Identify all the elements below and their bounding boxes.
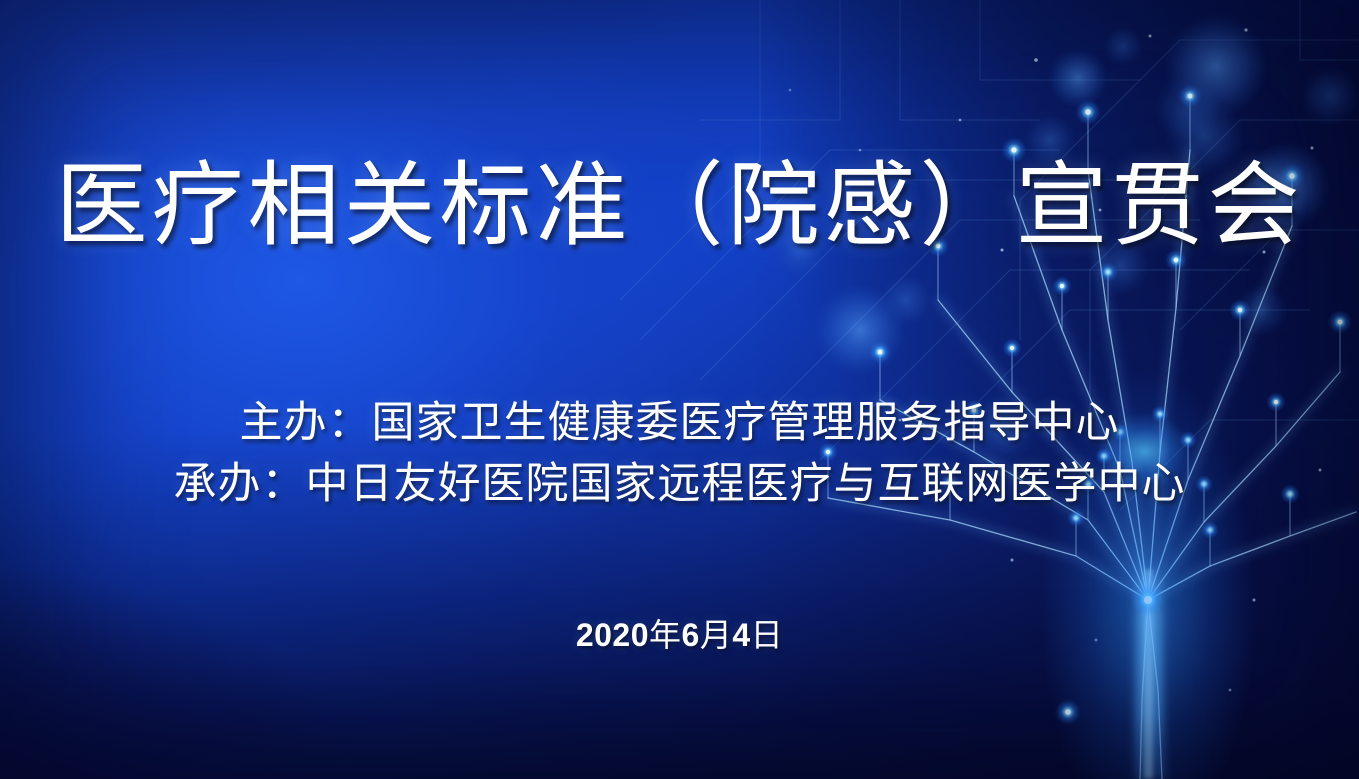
date-month: 6 (682, 617, 700, 653)
page-title: 医疗相关标准（院感）宣贯会 (0, 158, 1359, 255)
organizer-block: 主办：国家卫生健康委医疗管理服务指导中心 承办：中日友好医院国家远程医疗与互联网… (0, 393, 1359, 515)
date-year-unit: 年 (649, 617, 682, 653)
date-day: 4 (732, 617, 750, 653)
date-month-unit: 月 (700, 617, 733, 653)
slide-content: 医疗相关标准（院感）宣贯会 主办：国家卫生健康委医疗管理服务指导中心 承办：中日… (0, 0, 1359, 779)
date-year: 2020 (576, 617, 649, 653)
organizer-line-coordinator: 承办：中日友好医院国家远程医疗与互联网医学中心 (0, 454, 1359, 515)
presentation-slide: 医疗相关标准（院感）宣贯会 主办：国家卫生健康委医疗管理服务指导中心 承办：中日… (0, 0, 1359, 779)
event-date: 2020年6月4日 (0, 610, 1359, 656)
organizer-line-host: 主办：国家卫生健康委医疗管理服务指导中心 (0, 393, 1359, 454)
date-day-unit: 日 (751, 617, 784, 653)
